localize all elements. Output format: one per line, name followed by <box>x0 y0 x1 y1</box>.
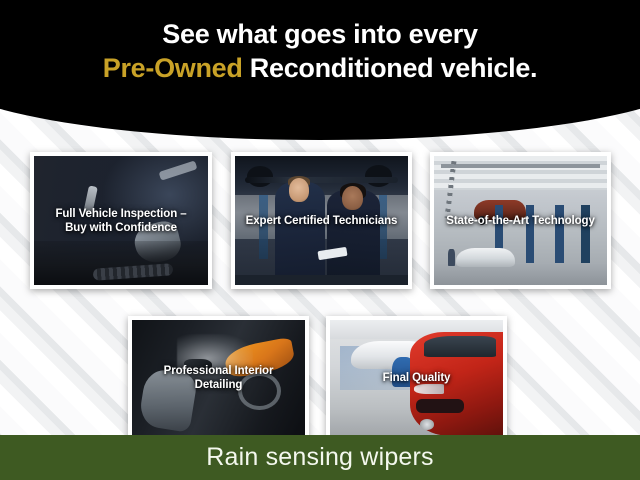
decor-red-car-window <box>424 336 496 357</box>
decor-roof-truss <box>441 164 600 169</box>
header-content: See what goes into every Pre-Owned Recon… <box>0 0 640 140</box>
decor-worker <box>448 249 455 266</box>
decor-shop-roof <box>434 156 607 190</box>
feature-card-technology[interactable]: State-of-the-Art Technology <box>430 152 611 289</box>
card-caption-line-2: Detailing <box>195 379 243 391</box>
decor-red-car-headlamp <box>414 384 444 394</box>
decor-lift-beam <box>245 177 397 183</box>
feature-card-technicians[interactable]: Expert Certified Technicians <box>231 152 412 289</box>
card-image-inspection: Full Vehicle Inspection – Buy with Confi… <box>34 156 208 285</box>
headline-line-1: See what goes into every <box>162 19 477 49</box>
card-image-technicians: Expert Certified Technicians <box>235 156 408 285</box>
card-caption-line-1: Full Vehicle Inspection – <box>55 208 186 220</box>
slide-root: See what goes into every Pre-Owned Recon… <box>0 0 640 480</box>
decor-technician-two-head <box>342 186 363 211</box>
decor-shop-floor <box>434 264 607 285</box>
headline-line-2-rest: Reconditioned vehicle. <box>243 53 538 83</box>
card-caption-technicians: Expert Certified Technicians <box>235 214 408 228</box>
footer-feature-bar: Rain sensing wipers <box>0 435 640 480</box>
feature-card-inspection[interactable]: Full Vehicle Inspection – Buy with Confi… <box>30 152 212 289</box>
feature-card-detailing[interactable]: Professional Interior Detailing <box>128 316 309 440</box>
feature-card-final-quality[interactable]: Final Quality <box>326 316 507 440</box>
card-caption-technology: State-of-the-Art Technology <box>434 214 607 228</box>
page-title: See what goes into every Pre-Owned Recon… <box>0 17 640 85</box>
decor-technician-one-head <box>289 178 310 203</box>
headline-line-2: Pre-Owned Reconditioned vehicle. <box>0 51 640 85</box>
card-caption-line-2: Buy with Confidence <box>65 222 177 234</box>
decor-red-car-grille <box>416 399 464 413</box>
footer-feature-label: Rain sensing wipers <box>206 443 434 472</box>
card-image-final-quality: Final Quality <box>330 320 503 436</box>
decor-floor <box>235 275 408 285</box>
card-image-technology: State-of-the-Art Technology <box>434 156 607 285</box>
decor-white-car <box>456 248 515 267</box>
decor-reflective-stripe <box>159 161 198 181</box>
card-caption-inspection: Full Vehicle Inspection – Buy with Confi… <box>34 207 208 235</box>
header-banner: See what goes into every Pre-Owned Recon… <box>0 0 640 140</box>
decor-red-car-foglight <box>420 419 434 429</box>
card-caption-final-quality: Final Quality <box>330 371 503 385</box>
card-caption-line-1: Professional Interior <box>164 365 274 377</box>
card-image-detailing: Professional Interior Detailing <box>132 320 305 436</box>
headline-highlight: Pre-Owned <box>103 53 243 83</box>
card-caption-detailing: Professional Interior Detailing <box>132 364 305 392</box>
decor-wheel-right <box>365 165 393 187</box>
